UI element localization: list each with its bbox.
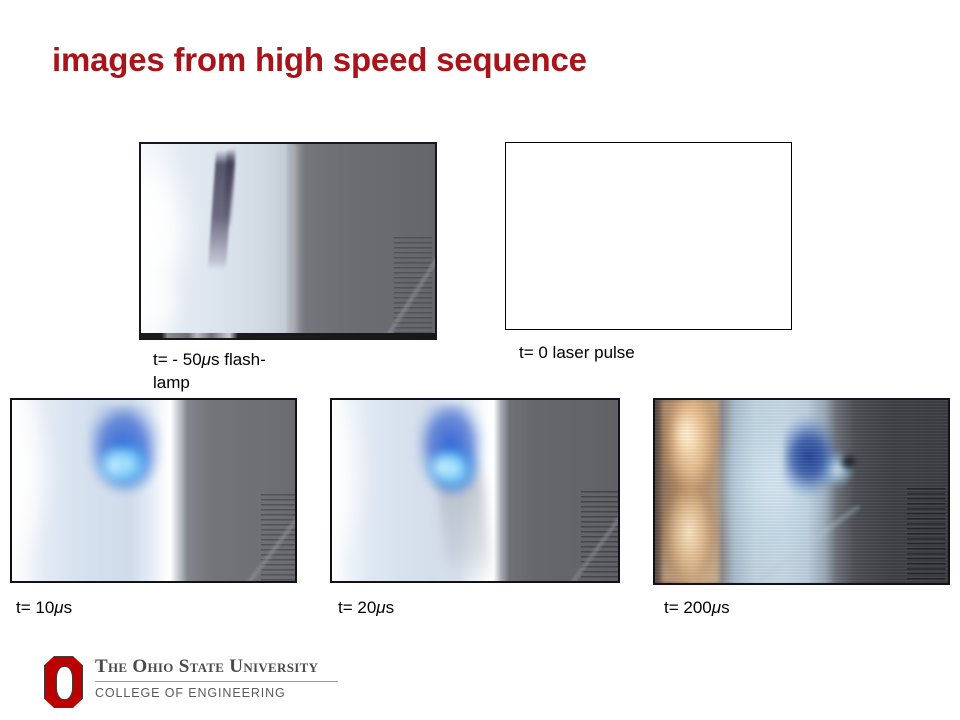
caption-20us: t= 20μs [338,596,394,619]
logo-college-name: COLLEGE OF ENGINEERING [95,686,338,700]
logo-university-name: The Ohio State University [95,657,338,677]
logo-divider [95,681,338,682]
caption-200us: t= 200μs [664,596,730,619]
frame-4-content [332,400,618,581]
frame-4-plasma-core [421,447,464,487]
frame-2-content [506,143,791,329]
image-frame-minus-50us [139,142,437,340]
caption-1-prefix: t= - 50 [153,350,202,369]
block-o-inner-counter [56,666,73,700]
caption-3-suffix: s [64,598,73,617]
frame-1-vertical-seam [292,144,299,338]
frame-5-content [655,400,948,583]
page-title: images from high speed sequence [52,41,587,79]
frame-3-diagonal-edge [244,500,295,581]
caption-3-prefix: t= 10 [16,598,54,617]
frame-1-content [141,144,435,338]
caption-2-prefix: t= 0 laser pulse [519,343,635,362]
caption-0us: t= 0 laser pulse [519,341,635,364]
image-frame-20us [330,398,620,583]
image-frame-10us [10,398,297,583]
frame-4-left-glow [332,400,401,581]
frame-5-scanlines [655,400,948,583]
logo-text-group: The Ohio State University COLLEGE OF ENG… [95,655,338,700]
frame-4-diagonal-edge [569,498,618,581]
caption-5-micro-symbol: μ [712,598,721,617]
frame-3-content [12,400,295,581]
caption-1-micro-symbol: μ [202,350,211,369]
frame-3-left-glow [12,400,86,581]
osu-logo: The Ohio State University COLLEGE OF ENG… [44,655,344,713]
image-frame-200us [653,398,950,585]
caption-minus-50us: t= - 50μs flash- lamp [153,348,353,395]
caption-5-suffix: s [721,598,730,617]
frame-1-lower-bloom [141,257,200,338]
caption-3-micro-symbol: μ [54,598,63,617]
caption-4-suffix: s [386,598,395,617]
frame-3-plasma-core [94,443,134,486]
frame-1-bottom-strip [141,333,435,338]
caption-10us: t= 10μs [16,596,72,619]
frame-1-diagonal-edge [382,245,435,338]
block-o-icon [44,656,83,708]
caption-4-prefix: t= 20 [338,598,376,617]
image-frame-0us [505,142,792,330]
caption-4-micro-symbol: μ [376,598,385,617]
caption-5-prefix: t= 200 [664,598,712,617]
